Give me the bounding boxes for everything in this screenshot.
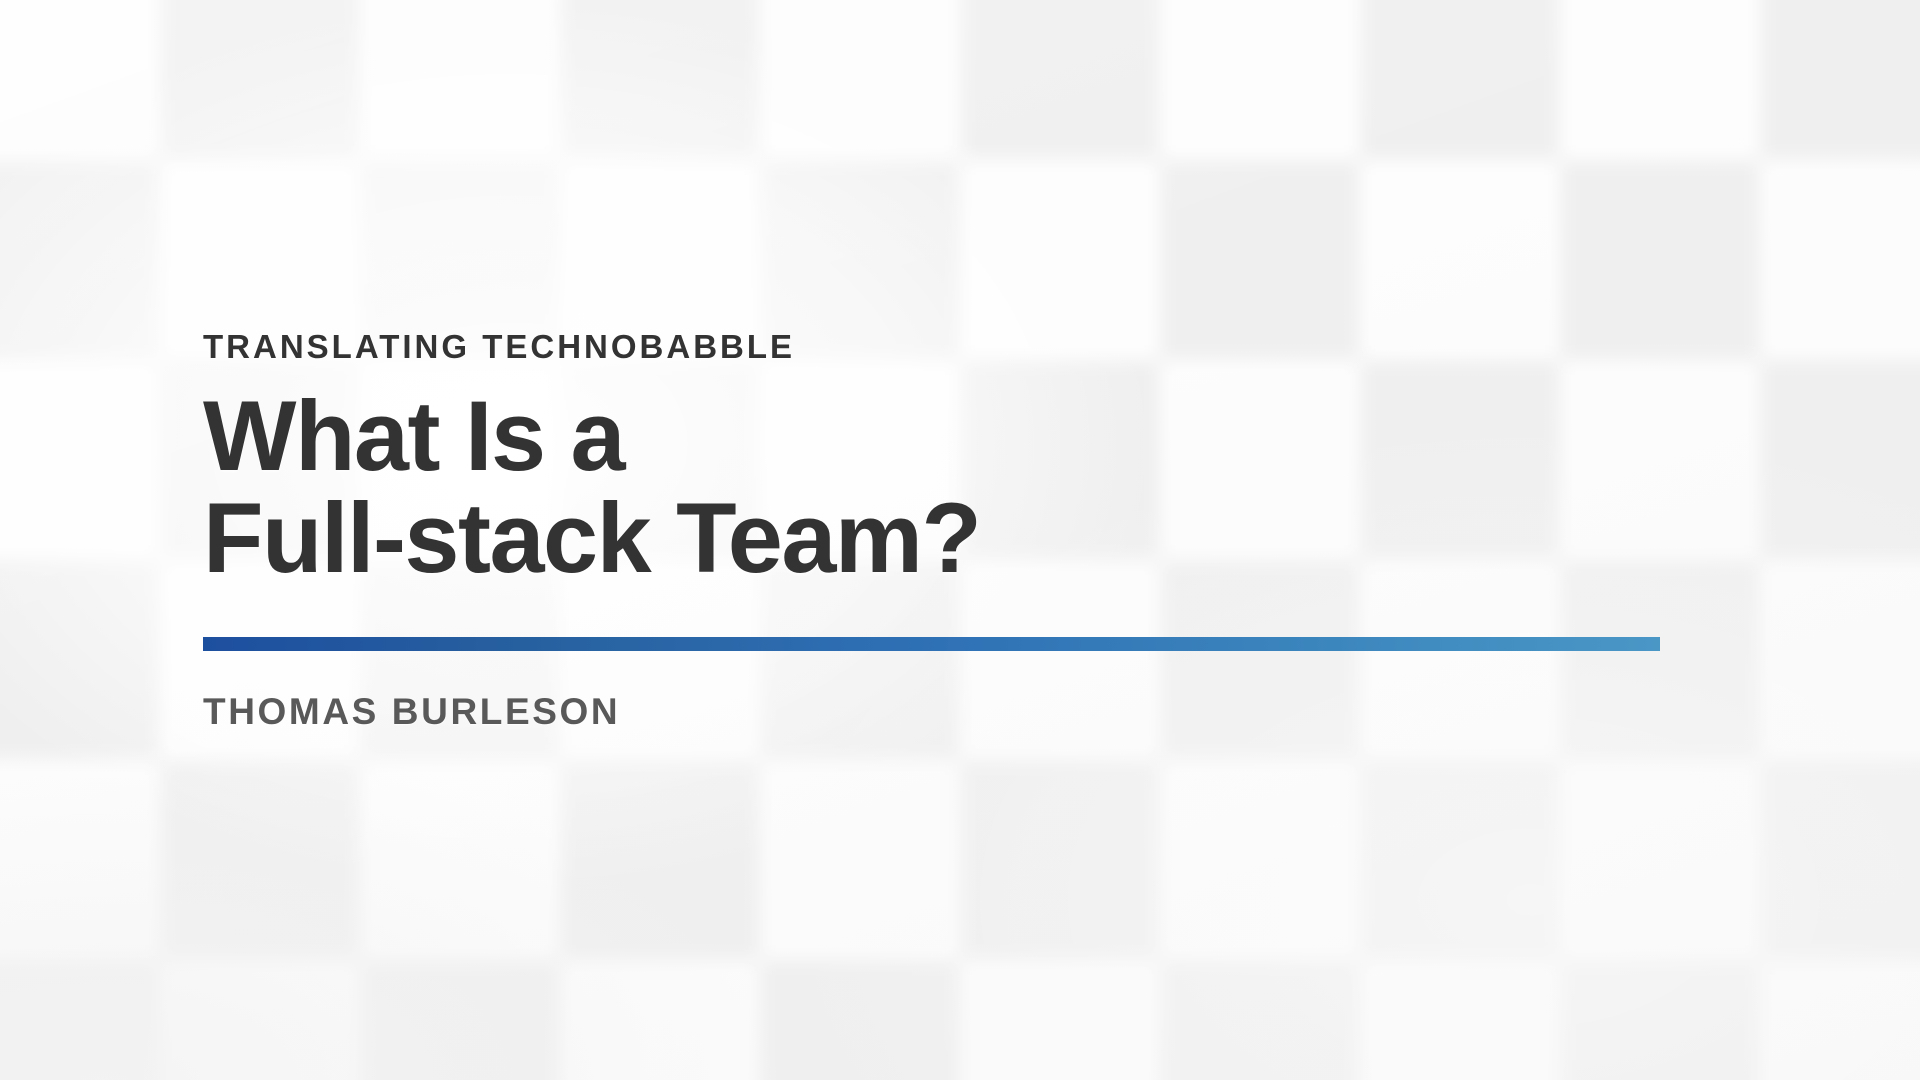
- slide-title-line-2: Full-stack Team?: [203, 487, 1743, 589]
- accent-rule-container: [203, 637, 1660, 651]
- slide-content: TRANSLATING TECHNOBABBLE What Is a Full-…: [203, 330, 1743, 730]
- slide-kicker: TRANSLATING TECHNOBABBLE: [203, 330, 1743, 363]
- title-slide: TRANSLATING TECHNOBABBLE What Is a Full-…: [0, 0, 1920, 1080]
- slide-author: THOMAS BURLESON: [203, 693, 1743, 730]
- slide-title: What Is a Full-stack Team?: [203, 385, 1743, 589]
- accent-rule: [203, 637, 1660, 651]
- slide-title-line-1: What Is a: [203, 385, 1743, 487]
